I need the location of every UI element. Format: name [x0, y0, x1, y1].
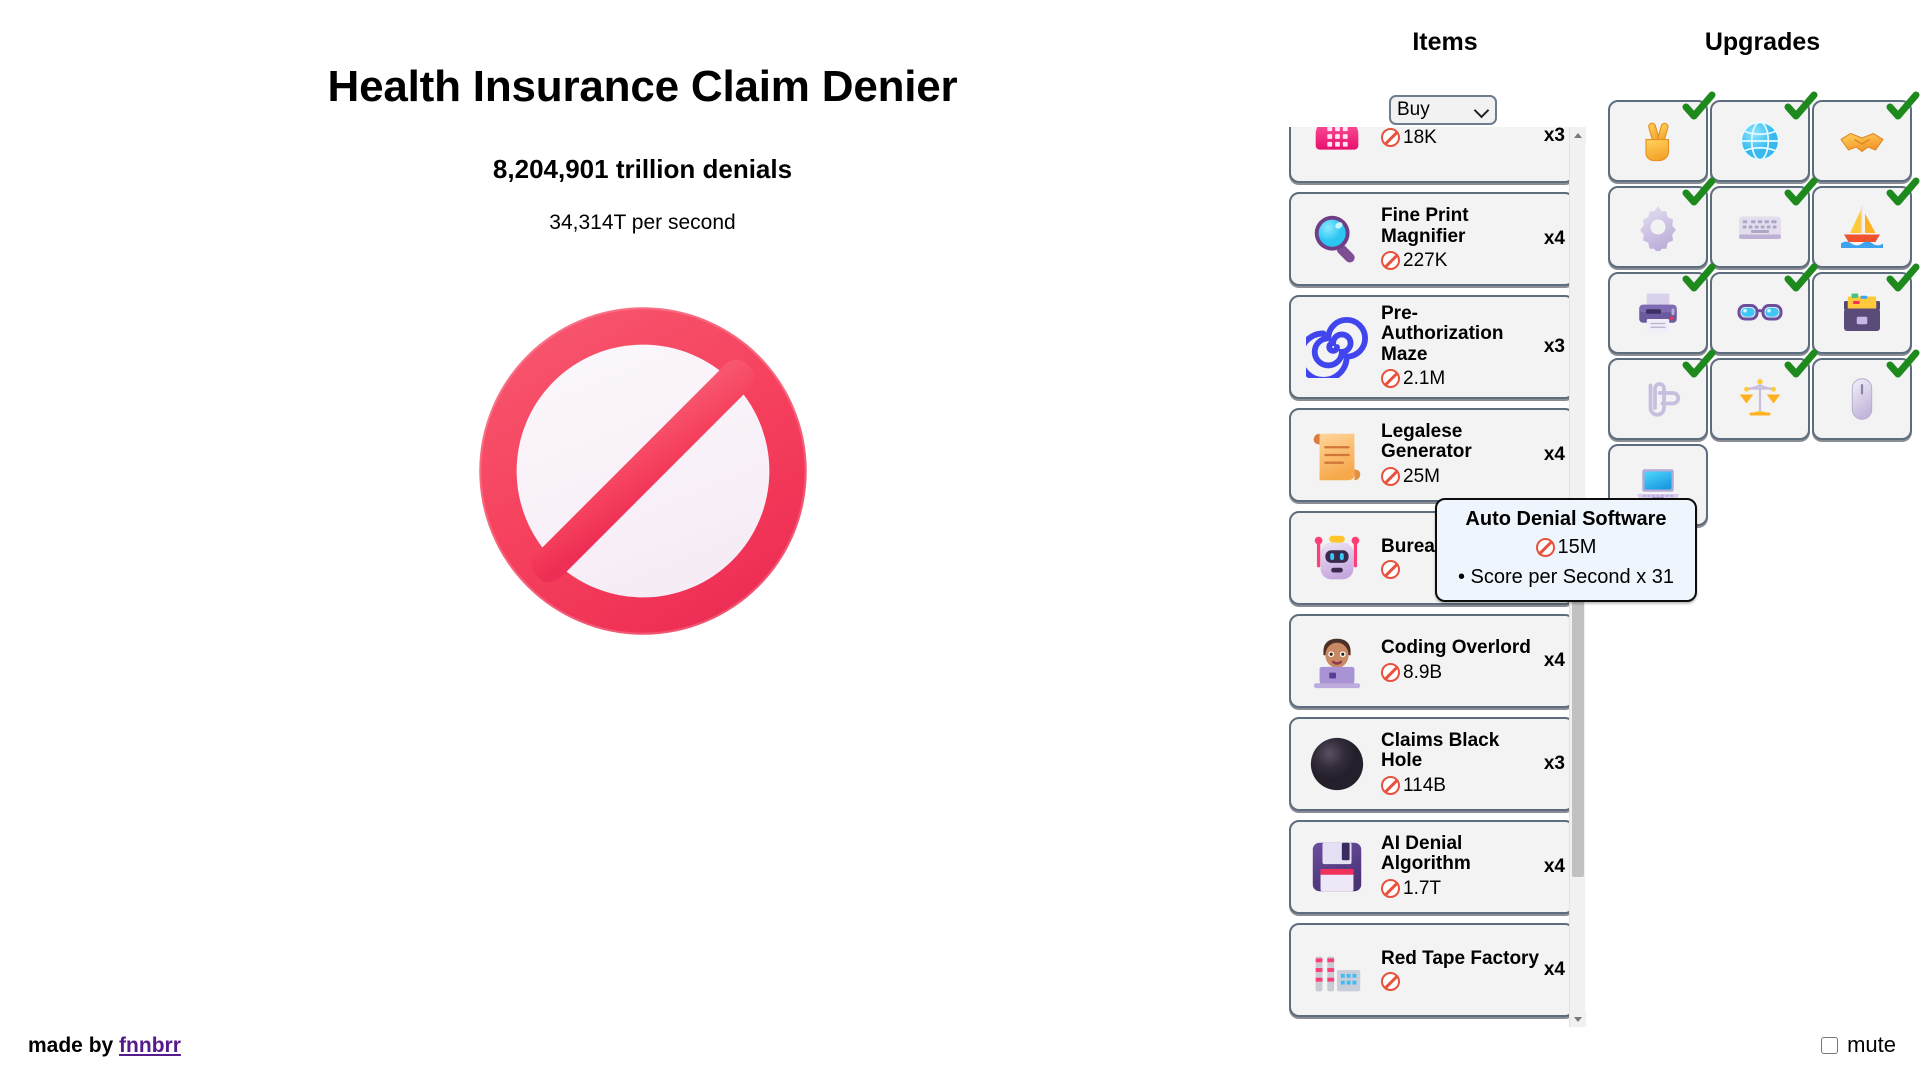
keyboard-icon — [1736, 203, 1784, 251]
page-title: Health Insurance Claim Denier — [328, 62, 958, 112]
item-card[interactable]: Coding Overlord8.9Bx4 — [1289, 614, 1575, 708]
item-quantity: x3 — [1540, 336, 1565, 358]
paperclip-icon — [1634, 375, 1682, 423]
click-target-button[interactable] — [463, 291, 823, 651]
author-link[interactable]: fnnbrr — [119, 1034, 181, 1057]
item-quantity: x4 — [1540, 444, 1565, 466]
item-body: Pre-Authorization Maze2.1M — [1375, 304, 1540, 390]
upgrade-cell[interactable] — [1710, 100, 1810, 182]
item-cost — [1381, 972, 1540, 991]
item-name: Claims Black Hole — [1381, 731, 1540, 772]
item-name: Red Tape Factory — [1381, 949, 1540, 969]
card-file-box-icon — [1838, 289, 1886, 337]
item-body: 18K — [1375, 127, 1540, 149]
magnifying-glass-icon — [1299, 201, 1375, 277]
item-name: Pre-Authorization Maze — [1381, 304, 1540, 365]
buy-mode-select[interactable]: Buy — [1389, 95, 1497, 125]
upgrade-cell[interactable] — [1608, 358, 1708, 440]
item-cost: 18K — [1381, 127, 1540, 149]
chevron-down-icon — [1574, 1017, 1582, 1022]
item-quantity: x4 — [1540, 650, 1565, 672]
tooltip-title: Auto Denial Software — [1447, 508, 1685, 531]
item-card[interactable]: 18Kx3 — [1289, 127, 1575, 183]
factory-icon — [1299, 932, 1375, 1008]
item-body: AI Denial Algorithm1.7T — [1375, 834, 1540, 900]
item-quantity: x4 — [1540, 228, 1565, 250]
person-laptop-icon — [1299, 623, 1375, 699]
item-name: AI Denial Algorithm — [1381, 834, 1540, 875]
item-cost: 227K — [1381, 250, 1540, 272]
item-cost-value: 2.1M — [1403, 368, 1445, 390]
globe-icon — [1736, 117, 1784, 165]
item-body: Fine Print Magnifier227K — [1375, 206, 1540, 272]
score-display: 8,204,901 trillion denials — [493, 154, 792, 185]
item-cost-value: 18K — [1403, 127, 1437, 149]
victory-hand-icon — [1634, 117, 1682, 165]
upgrade-cell[interactable] — [1710, 272, 1810, 354]
item-cost: 2.1M — [1381, 368, 1540, 390]
item-name: Coding Overlord — [1381, 638, 1540, 658]
denial-currency-icon — [1381, 369, 1400, 388]
item-body: Coding Overlord8.9B — [1375, 638, 1540, 683]
prohibited-sign-icon — [465, 293, 821, 649]
denial-currency-icon — [1381, 560, 1400, 579]
item-card[interactable]: Pre-Authorization Maze2.1Mx3 — [1289, 295, 1575, 399]
checkmark-icon — [1886, 90, 1920, 124]
item-name: Fine Print Magnifier — [1381, 206, 1540, 247]
telephone-icon — [1299, 127, 1375, 174]
credits: made by fnnbrr — [28, 1034, 181, 1058]
black-hole-icon — [1299, 726, 1375, 802]
rate-display: 34,314T per second — [549, 211, 735, 235]
main-clicker-area: Health Insurance Claim Denier 8,204,901 … — [0, 0, 1285, 1020]
denial-currency-icon — [1381, 251, 1400, 270]
item-cost-value: 25M — [1403, 466, 1440, 488]
credits-prefix: made by — [28, 1034, 119, 1057]
denial-currency-icon — [1381, 663, 1400, 682]
denial-currency-icon — [1381, 879, 1400, 898]
upgrade-cell[interactable] — [1812, 186, 1912, 268]
chevron-down-icon — [1475, 103, 1489, 117]
computer-mouse-icon — [1838, 375, 1886, 423]
spiral-icon — [1299, 309, 1375, 385]
item-cost-value: 227K — [1403, 250, 1447, 272]
item-body: Claims Black Hole114B — [1375, 731, 1540, 797]
buy-mode-value: Buy — [1397, 99, 1430, 121]
scrollbar-down-button[interactable] — [1570, 1011, 1586, 1027]
denial-currency-icon — [1381, 972, 1400, 991]
mute-control[interactable]: mute — [1821, 1032, 1896, 1058]
item-quantity: x4 — [1540, 959, 1565, 981]
item-body: Legalese Generator25M — [1375, 422, 1540, 488]
item-cost: 114B — [1381, 775, 1540, 797]
upgrade-cell[interactable] — [1812, 358, 1912, 440]
upgrades-grid — [1608, 100, 1920, 526]
scroll-icon — [1299, 417, 1375, 493]
upgrades-panel-heading: Upgrades — [1605, 28, 1920, 57]
upgrade-tooltip: Auto Denial Software 15M • Score per Sec… — [1435, 498, 1697, 602]
tooltip-cost: 15M — [1447, 536, 1685, 559]
item-cost-value: 114B — [1403, 775, 1446, 797]
item-card[interactable]: Legalese Generator25Mx4 — [1289, 408, 1575, 502]
denial-currency-icon — [1381, 128, 1400, 147]
item-body: Red Tape Factory — [1375, 949, 1540, 991]
buy-mode-select-wrap: Buy — [1389, 95, 1497, 125]
robot-icon — [1299, 520, 1375, 596]
item-cost: 25M — [1381, 466, 1540, 488]
upgrade-cell[interactable] — [1710, 358, 1810, 440]
chevron-up-icon — [1574, 133, 1582, 138]
upgrade-cell[interactable] — [1812, 100, 1912, 182]
floppy-disk-icon — [1299, 829, 1375, 905]
upgrade-cell[interactable] — [1608, 186, 1708, 268]
glasses-icon — [1736, 289, 1784, 337]
item-cost-value: 8.9B — [1403, 662, 1442, 684]
item-card[interactable]: Claims Black Hole114Bx3 — [1289, 717, 1575, 811]
item-cost: 8.9B — [1381, 662, 1540, 684]
item-quantity: x4 — [1540, 856, 1565, 878]
item-quantity: x3 — [1540, 127, 1565, 147]
denial-currency-icon — [1381, 467, 1400, 486]
balance-scale-icon — [1736, 375, 1784, 423]
mute-checkbox[interactable] — [1821, 1037, 1838, 1054]
upgrade-cell[interactable] — [1710, 186, 1810, 268]
upgrade-cell[interactable] — [1608, 100, 1708, 182]
mute-label: mute — [1847, 1032, 1896, 1058]
item-cost: 1.7T — [1381, 878, 1540, 900]
game-root: Health Insurance Claim Denier 8,204,901 … — [0, 0, 1920, 1080]
denial-currency-icon — [1381, 776, 1400, 795]
handshake-icon — [1838, 117, 1886, 165]
tooltip-effect: • Score per Second x 31 — [1447, 566, 1685, 589]
item-quantity: x3 — [1540, 753, 1565, 775]
tooltip-cost-value: 15M — [1558, 536, 1597, 559]
item-card[interactable]: AI Denial Algorithm1.7Tx4 — [1289, 820, 1575, 914]
printer-icon — [1634, 289, 1682, 337]
item-card[interactable]: Fine Print Magnifier227Kx4 — [1289, 192, 1575, 286]
items-panel-heading: Items — [1285, 28, 1605, 57]
item-card[interactable]: Red Tape Factoryx4 — [1289, 923, 1575, 1017]
upgrade-cell[interactable] — [1608, 272, 1708, 354]
gear-icon — [1634, 203, 1682, 251]
item-cost-value: 1.7T — [1403, 878, 1441, 900]
scrollbar-up-button[interactable] — [1570, 127, 1586, 143]
sailboat-icon — [1838, 203, 1886, 251]
upgrade-cell[interactable] — [1812, 272, 1912, 354]
item-name: Legalese Generator — [1381, 422, 1540, 463]
denial-currency-icon — [1536, 538, 1555, 557]
